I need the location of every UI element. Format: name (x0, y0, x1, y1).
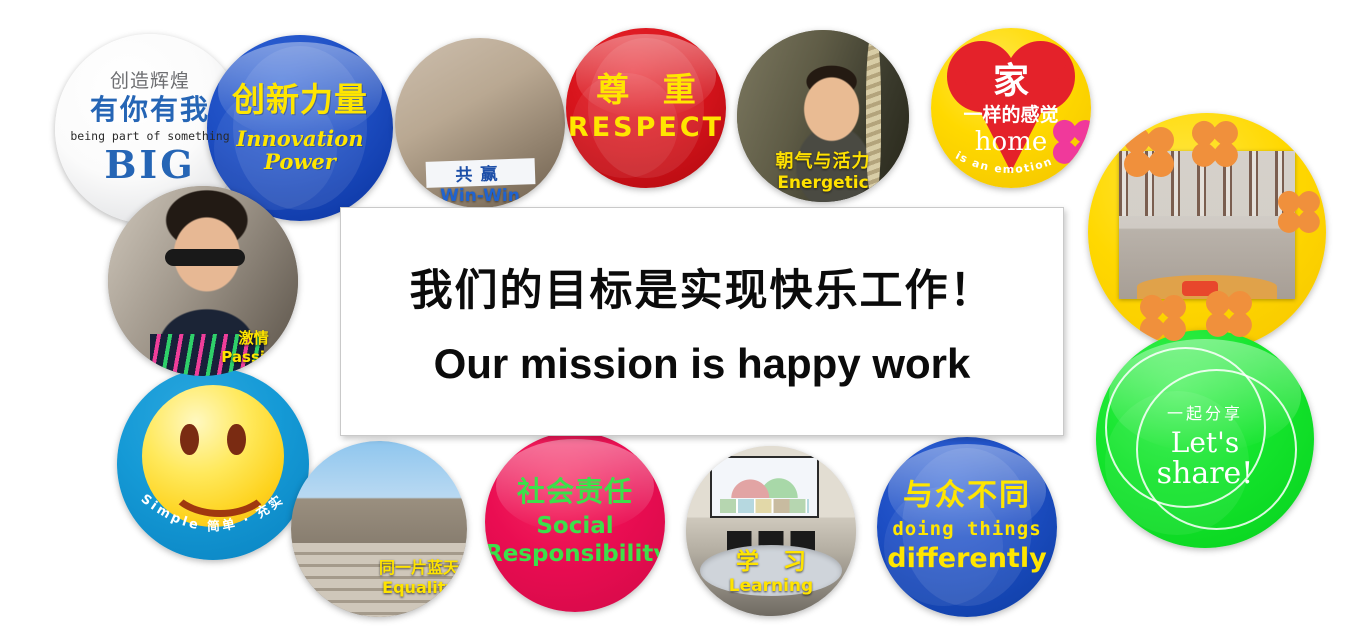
badge-energetic-label: 朝气与活力 Energetic (737, 147, 909, 193)
badge-win-win[interactable]: 共赢 Win-Win (395, 38, 565, 208)
badge-equality-label: 同一片蓝天 Equality (379, 554, 459, 597)
badge-winwin-band: 共赢 (425, 159, 535, 188)
mission-banner: 我们的目标是实现快乐工作！ Our mission is happy work (340, 207, 1064, 436)
badge-winwin-english: Win-Win (395, 186, 565, 206)
badge-respect-english: RESPECT (566, 113, 726, 143)
badge-passion-english: Passion (221, 348, 286, 366)
sunglasses (165, 249, 245, 266)
badge-equality-chinese: 同一片蓝天 (379, 554, 459, 578)
badge-lets-share[interactable]: 一起分享 Let's share! (1096, 330, 1314, 548)
badge-diff-english-2: differently (877, 544, 1057, 574)
badge-learning-label: 学 习 Learning (686, 542, 856, 596)
badge-winwin-chinese: 共赢 (455, 160, 506, 187)
badge-passion-label: 激情 Passion (221, 327, 286, 366)
badge-diff-chinese: 与众不同 (877, 479, 1057, 513)
badge-learning-chinese: 学 习 (686, 542, 856, 576)
mission-english: Our mission is happy work (434, 340, 971, 388)
badge-social-responsibility[interactable]: 社会责任 Social Responsibility (485, 432, 665, 612)
badge-home-char: 家 (931, 52, 1091, 104)
badge-social-english-2: Responsibility (485, 542, 665, 568)
badge-home-tagline: is an emotion (953, 149, 1054, 176)
badge-social-english-1: Social (485, 514, 665, 540)
badge-share-english-1: Let's (1096, 426, 1314, 459)
badge-team-photo[interactable] (1088, 113, 1326, 351)
badge-learning-english: Learning (686, 576, 856, 596)
badge-smile-arc: Simple 简单 · 充实 Rich (117, 487, 309, 556)
flower-icon (1206, 291, 1252, 337)
badge-respect[interactable]: 尊 重 RESPECT (566, 28, 726, 188)
badge-energetic-english: Energetic (737, 173, 909, 193)
badge-energetic-chinese: 朝气与活力 (737, 147, 909, 173)
mission-chinese: 我们的目标是实现快乐工作！ (410, 256, 995, 318)
badge-equality-english: Equality (379, 578, 459, 597)
badge-share-english-2: share! (1096, 456, 1314, 491)
flower-icon (1278, 191, 1320, 233)
flower-icon (1053, 120, 1091, 164)
badge-energetic[interactable]: 朝气与活力 Energetic (737, 30, 909, 202)
badge-simple-rich[interactable]: Simple 简单 · 充实 Rich (117, 368, 309, 560)
badge-learning[interactable]: 学 习 Learning (686, 446, 856, 616)
projector-screen (710, 456, 819, 518)
values-badge-collage: 创造辉煌 有你有我 being part of something BIG 创新… (0, 0, 1366, 635)
badge-innovation-chinese: 创新力量 (207, 82, 393, 119)
flower-icon (1192, 121, 1238, 167)
svg-text:is an emotion: is an emotion (953, 149, 1054, 176)
svg-text:Simple 简单 · 充实 Rich: Simple 简单 · 充实 Rich (117, 487, 294, 535)
badge-doing-things-differently[interactable]: 与众不同 doing things differently (877, 437, 1057, 617)
badge-social-chinese: 社会责任 (485, 476, 665, 507)
badge-equality[interactable]: 同一片蓝天 Equality (291, 441, 467, 617)
badge-home-is-an-emotion[interactable]: 家 一样的感觉 home is an emotion (931, 28, 1091, 188)
badge-respect-chinese: 尊 重 (566, 72, 726, 109)
badge-passion-chinese: 激情 (221, 327, 286, 348)
badge-share-chinese: 一起分享 (1096, 400, 1314, 424)
badge-diff-english-1: doing things (877, 519, 1057, 540)
flower-icon (1140, 295, 1186, 341)
badge-innovation-english: Innovation Power (207, 127, 393, 174)
flower-icon (1124, 127, 1174, 177)
badge-smile-text: Simple 简单 · 充实 Rich (117, 487, 294, 535)
badge-passion[interactable]: 激情 Passion (108, 186, 298, 376)
